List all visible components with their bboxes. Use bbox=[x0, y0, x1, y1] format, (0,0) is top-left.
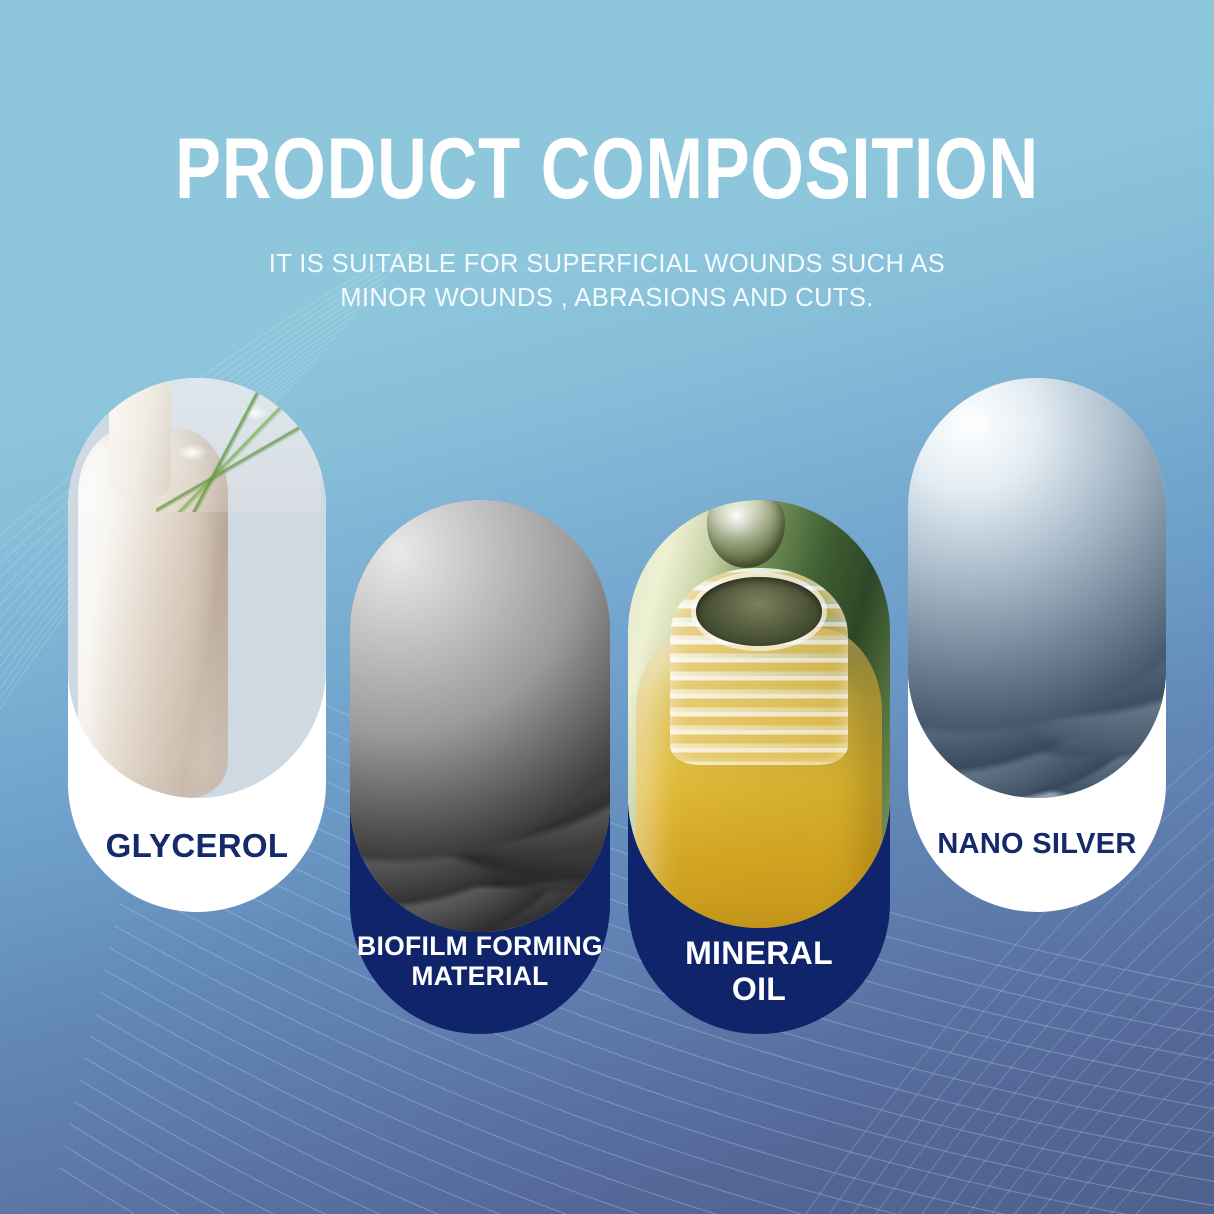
page-title: PRODUCT COMPOSITION bbox=[121, 126, 1092, 212]
oil-droplet-icon bbox=[707, 500, 786, 568]
mineral-label-line-1: MINERAL bbox=[685, 935, 833, 971]
composition-label-biofilm: BIOFILM FORMING MATERIAL bbox=[350, 932, 610, 991]
nano-silver-particles-image bbox=[908, 378, 1166, 798]
subtitle-line-1: IT IS SUITABLE FOR SUPERFICIAL WOUNDS SU… bbox=[0, 248, 1214, 282]
product-composition-poster: PRODUCT COMPOSITION IT IS SUITABLE FOR S… bbox=[0, 0, 1214, 1214]
mineral-oil-bottle-image bbox=[628, 500, 890, 928]
flower-sprig-detail bbox=[156, 378, 321, 512]
composition-label-glycerol: GLYCEROL bbox=[68, 828, 326, 865]
mineral-label-line-2: OIL bbox=[732, 971, 786, 1007]
mineral-oil-photo bbox=[628, 500, 890, 928]
biofilm-microscopy-image bbox=[350, 500, 610, 932]
biofilm-photo bbox=[350, 500, 610, 932]
subtitle-line-2: MINOR WOUNDS , ABRASIONS AND CUTS. bbox=[0, 282, 1214, 316]
biofilm-label-line-2: MATERIAL bbox=[411, 961, 548, 991]
biofilm-label-line-1: BIOFILM FORMING bbox=[357, 931, 603, 961]
oil-bottle-mouth bbox=[696, 577, 822, 645]
frosted-bottle-image bbox=[68, 378, 326, 798]
glycerol-photo bbox=[68, 378, 326, 798]
composition-label-nano-silver: NANO SILVER bbox=[908, 828, 1166, 860]
composition-label-mineral-oil: MINERAL OIL bbox=[628, 936, 890, 1008]
page-subtitle: IT IS SUITABLE FOR SUPERFICIAL WOUNDS SU… bbox=[0, 248, 1214, 315]
nano-silver-photo bbox=[908, 378, 1166, 798]
